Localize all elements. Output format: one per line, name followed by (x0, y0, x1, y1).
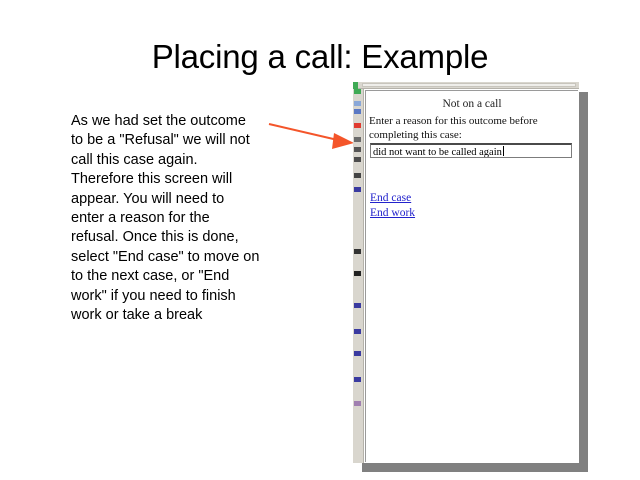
horizontal-scrollbar[interactable] (353, 82, 579, 89)
sidebar-marker (354, 303, 361, 308)
pointer-arrow-icon (268, 122, 358, 152)
sidebar-marker (354, 123, 361, 128)
sidebar-marker (354, 401, 361, 406)
reason-input[interactable]: did not want to be called again (370, 143, 572, 158)
sidebar-marker (354, 271, 361, 276)
app-content-pane: Not on a call Enter a reason for this ou… (365, 90, 578, 462)
cropped-sidebar-strip (353, 89, 364, 463)
text-caret (503, 146, 504, 156)
sidebar-marker (354, 377, 361, 382)
sidebar-marker (354, 89, 361, 94)
end-work-link[interactable]: End work (370, 206, 415, 221)
sidebar-marker (354, 147, 361, 152)
sidebar-marker (354, 101, 361, 106)
sidebar-marker (354, 157, 361, 162)
app-action-links: End case End work (370, 191, 415, 221)
end-case-link[interactable]: End case (370, 191, 415, 206)
embedded-app-screenshot: Not on a call Enter a reason for this ou… (353, 82, 579, 463)
page-title: Placing a call: Example (0, 38, 640, 76)
slide-body-text: As we had set the outcome to be a "Refus… (71, 112, 261, 325)
reason-input-value: did not want to be called again (373, 147, 502, 158)
scrollbar-corner-marker (353, 82, 358, 89)
sidebar-marker (354, 187, 361, 192)
presentation-slide: Placing a call: Example As we had set th… (0, 0, 640, 480)
sidebar-marker (354, 351, 361, 356)
sidebar-marker (354, 173, 361, 178)
sidebar-marker (354, 329, 361, 334)
sidebar-marker (354, 109, 361, 114)
scrollbar-thumb[interactable] (362, 83, 576, 87)
app-instruction-text: Enter a reason for this outcome before c… (369, 114, 575, 142)
sidebar-marker (354, 137, 361, 142)
app-heading: Not on a call (366, 98, 578, 110)
sidebar-marker (354, 249, 361, 254)
